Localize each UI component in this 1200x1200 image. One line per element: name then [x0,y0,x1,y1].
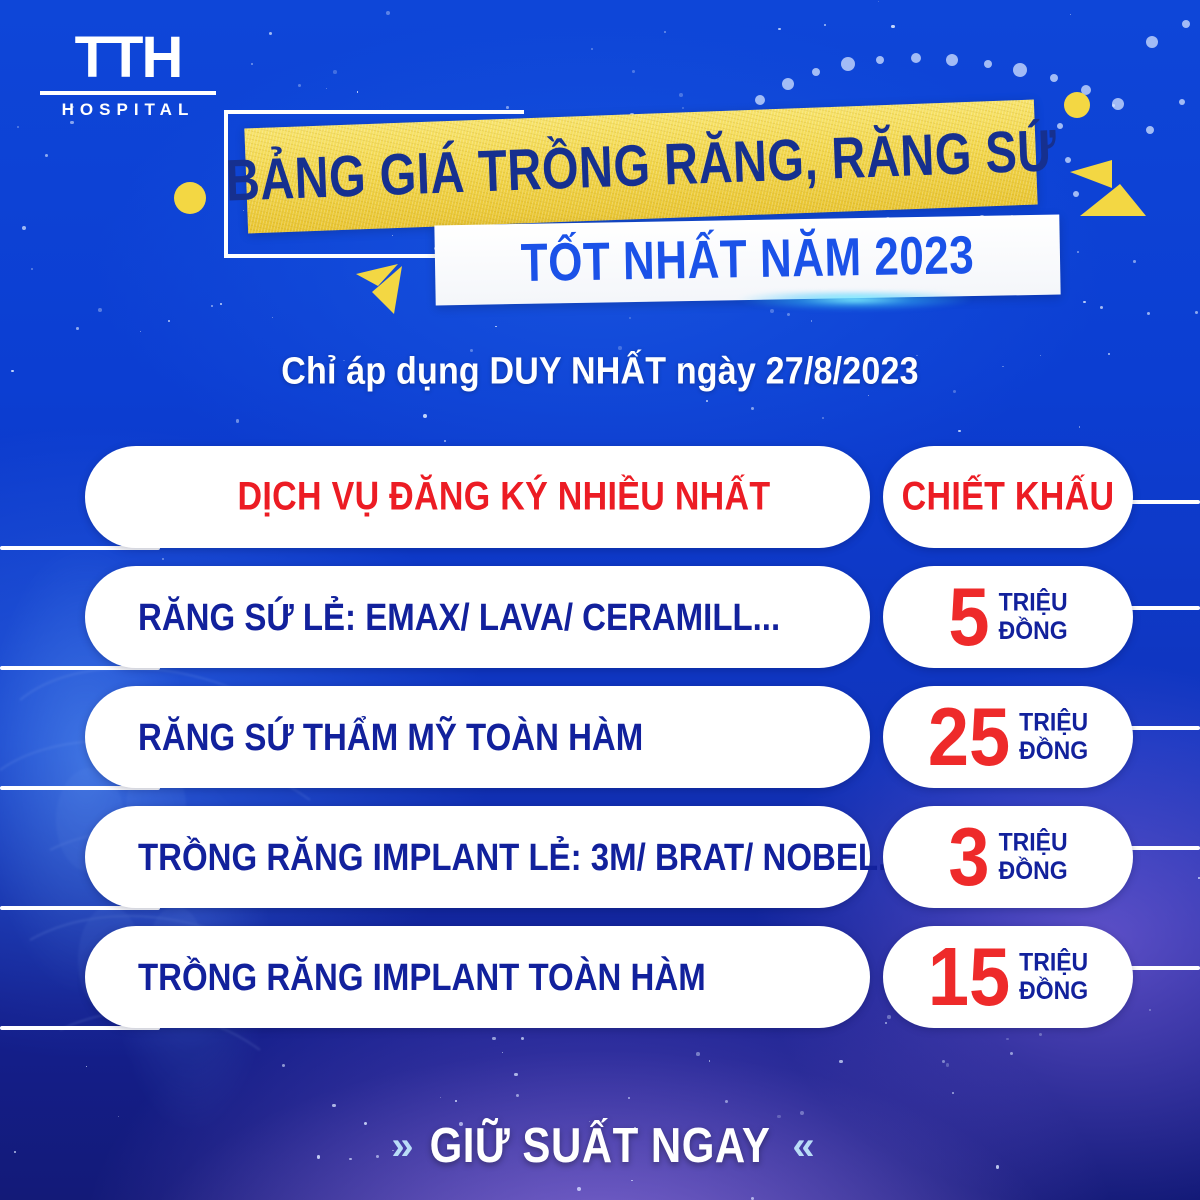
unit-line-2: ĐỒNG [1019,977,1088,1005]
table-row[interactable]: TRỒNG RĂNG IMPLANT TOÀN HÀM 15 TRIỆU ĐỒN… [0,926,1200,1028]
discount-amount: 5 TRIỆU ĐỒNG [948,587,1067,648]
discount-unit: TRIỆU ĐỒNG [1019,709,1088,766]
service-cell[interactable]: RĂNG SỨ THẨM MỸ TOÀN HÀM [85,686,870,788]
yellow-triangles-icon [1068,140,1150,220]
cta-label: GIỮ SUẤT NGAY [430,1118,771,1174]
yellow-circle-right-icon [1064,92,1090,118]
discount-unit: TRIỆU ĐỒNG [999,589,1068,646]
unit-line-1: TRIỆU [999,829,1068,857]
header-cell-discount: CHIẾT KHẤU [883,446,1133,548]
page-subtitle-year: TỐT NHẤT NĂM 2023 [520,226,974,295]
unit-line-2: ĐỒNG [999,617,1068,645]
service-name: RĂNG SỨ LẺ: EMAX/ LAVA/ CERAMILL... [138,595,780,639]
discount-amount: 3 TRIỆU ĐỒNG [948,827,1067,888]
promo-date-note: Chỉ áp dụng DUY NHẤT ngày 27/8/2023 [0,350,1200,394]
chevron-left-icon: « [792,1124,808,1169]
column-header-discount: CHIẾT KHẤU [902,474,1115,519]
table-header-row: DỊCH VỤ ĐĂNG KÝ NHIỀU NHẤT CHIẾT KHẤU [0,446,1200,548]
logo-divider [40,91,216,95]
discount-number: 15 [928,943,1010,1011]
yellow-circle-left-icon [174,182,206,214]
promo-poster: TTH HOSPITAL BẢNG GIÁ TRỒNG RĂNG, RĂNG S… [0,0,1200,1200]
unit-line-1: TRIỆU [1019,709,1088,737]
discount-amount: 25 TRIỆU ĐỒNG [928,707,1088,768]
discount-number: 25 [928,703,1010,771]
service-cell[interactable]: TRỒNG RĂNG IMPLANT TOÀN HÀM [85,926,870,1028]
discount-unit: TRIỆU ĐỒNG [1019,949,1088,1006]
logo-text: TTH [38,30,218,85]
title-block: BẢNG GIÁ TRỒNG RĂNG, RĂNG SỨ TỐT NHẤT NĂ… [210,92,1060,317]
unit-line-2: ĐỒNG [999,857,1068,885]
price-table: DỊCH VỤ ĐĂNG KÝ NHIỀU NHẤT CHIẾT KHẤU RĂ… [0,446,1200,1046]
yellow-paper-plane-icon [356,252,426,318]
table-row[interactable]: RĂNG SỨ LẺ: EMAX/ LAVA/ CERAMILL... 5 TR… [0,566,1200,668]
logo-subtext: HOSPITAL [38,100,218,120]
discount-unit: TRIỆU ĐỒNG [999,829,1068,886]
service-name: TRỒNG RĂNG IMPLANT TOÀN HÀM [138,955,706,999]
table-row[interactable]: RĂNG SỨ THẨM MỸ TOÀN HÀM 25 TRIỆU ĐỒNG [0,686,1200,788]
unit-line-1: TRIỆU [1019,949,1088,977]
discount-cell[interactable]: 25 TRIỆU ĐỒNG [883,686,1133,788]
service-name: RĂNG SỨ THẨM MỸ TOÀN HÀM [138,715,643,759]
cta-banner[interactable]: » GIỮ SUẤT NGAY « [0,1122,1200,1170]
brand-logo: TTH HOSPITAL [38,30,218,120]
service-cell[interactable]: TRỒNG RĂNG IMPLANT LẺ: 3M/ BRAT/ NOBEL..… [85,806,870,908]
discount-cell[interactable]: 5 TRIỆU ĐỒNG [883,566,1133,668]
discount-amount: 15 TRIỆU ĐỒNG [928,947,1088,1008]
discount-number: 3 [948,823,989,891]
service-cell[interactable]: RĂNG SỨ LẺ: EMAX/ LAVA/ CERAMILL... [85,566,870,668]
unit-line-2: ĐỒNG [1019,737,1088,765]
discount-number: 5 [948,583,989,651]
discount-cell[interactable]: 3 TRIỆU ĐỒNG [883,806,1133,908]
header-cell-service: DỊCH VỤ ĐĂNG KÝ NHIỀU NHẤT [85,446,870,548]
unit-line-1: TRIỆU [999,589,1068,617]
discount-cell[interactable]: 15 TRIỆU ĐỒNG [883,926,1133,1028]
service-name: TRỒNG RĂNG IMPLANT LẺ: 3M/ BRAT/ NOBEL..… [138,835,906,879]
page-title: BẢNG GIÁ TRỒNG RĂNG, RĂNG SỨ [224,118,1057,216]
title-glow-decoration [690,292,1020,318]
chevron-right-icon: » [391,1124,407,1169]
column-header-service: DỊCH VỤ ĐĂNG KÝ NHIỀU NHẤT [238,474,771,519]
table-row[interactable]: TRỒNG RĂNG IMPLANT LẺ: 3M/ BRAT/ NOBEL..… [0,806,1200,908]
